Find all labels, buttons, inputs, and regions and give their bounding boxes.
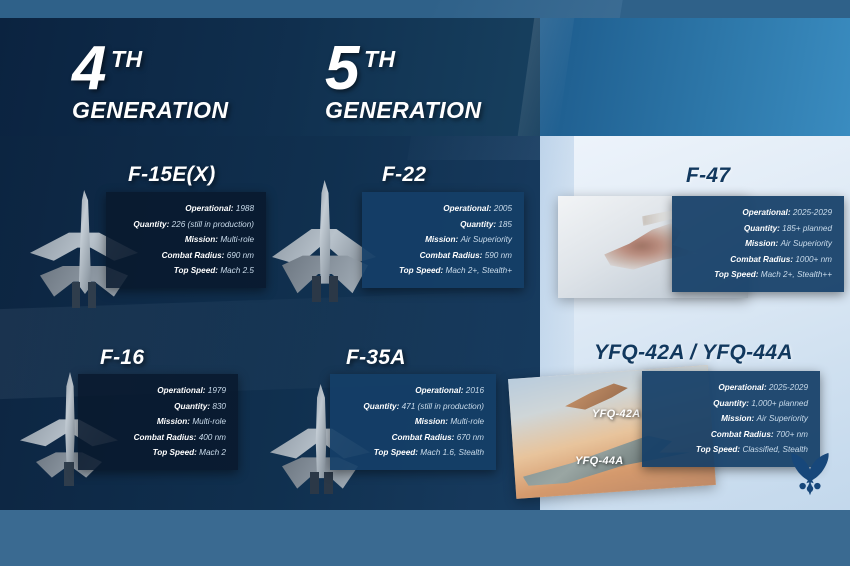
label-mission: Mission: (721, 414, 754, 423)
spec-combat-radius: Combat Radius: 700+ nm (652, 427, 808, 443)
value-quantity: 185+ planned (782, 224, 832, 233)
label-quantity: Quantity: (744, 224, 780, 233)
spec-card-f35a: Operational: 2016 Quantity: 471 (still i… (330, 374, 496, 470)
aircraft-name-f35a: F-35A (346, 346, 406, 370)
spec-operational: Operational: 2025-2029 (682, 205, 832, 221)
spec-combat-radius: Combat Radius: 1000+ nm (682, 252, 832, 268)
value-operational: 2025-2029 (769, 383, 808, 392)
value-combat-radius: 400 nm (199, 433, 226, 442)
label-quantity: Quantity: (713, 399, 749, 408)
f35-engine-left (310, 472, 319, 494)
spec-quantity: Quantity: 226 (still in production) (116, 217, 254, 233)
value-operational: 2016 (466, 386, 484, 395)
spec-quantity: Quantity: 1,000+ planned (652, 396, 808, 412)
spec-mission: Mission: Multi-role (116, 232, 254, 248)
spec-operational: Operational: 2016 (340, 383, 484, 399)
label-operational: Operational: (718, 383, 766, 392)
f16-engine (64, 462, 74, 486)
f22-engine-left (312, 276, 321, 302)
aircraft-name-f22: F-22 (382, 163, 426, 187)
label-top-speed: Top Speed: (399, 266, 443, 275)
label-operational: Operational: (157, 386, 205, 395)
label-combat-radius: Combat Radius: (711, 430, 774, 439)
gen4-word: GENERATION (72, 98, 229, 122)
gen5-number: 5 (325, 42, 360, 96)
value-mission: Air Superiority (757, 414, 808, 423)
value-quantity: 1,000+ planned (751, 399, 808, 408)
label-mission: Mission: (415, 417, 448, 426)
value-combat-radius: 670 nm (457, 433, 484, 442)
value-quantity: 830 (212, 402, 226, 411)
label-top-speed: Top Speed: (374, 448, 418, 457)
label-quantity: Quantity: (363, 402, 399, 411)
aircraft-name-f16: F-16 (100, 346, 144, 370)
bottom-accent-strip (0, 510, 850, 566)
spec-mission: Mission: Multi-role (340, 414, 484, 430)
spec-mission: Mission: Air Superiority (682, 236, 832, 252)
spec-quantity: Quantity: 185+ planned (682, 221, 832, 237)
label-top-speed: Top Speed: (714, 270, 758, 279)
label-quantity: Quantity: (133, 220, 169, 229)
spec-top-speed: Top Speed: Mach 2+, Stealth++ (682, 267, 832, 283)
value-quantity: 471 (still in production) (402, 402, 484, 411)
value-mission: Multi-role (220, 235, 254, 244)
value-quantity: 185 (498, 220, 512, 229)
label-operational: Operational: (415, 386, 463, 395)
spec-operational: Operational: 2025-2029 (652, 380, 808, 396)
header-title-gen5: 5TH GENERATION (325, 42, 482, 122)
label-mission: Mission: (745, 239, 778, 248)
value-top-speed: Mach 2+, Stealth+ (446, 266, 512, 275)
label-mission: Mission: (185, 235, 218, 244)
value-top-speed: Mach 2.5 (220, 266, 254, 275)
value-operational: 2025-2029 (793, 208, 832, 217)
value-combat-radius: 1000+ nm (795, 255, 832, 264)
label-combat-radius: Combat Radius: (162, 251, 225, 260)
label-mission: Mission: (425, 235, 458, 244)
spec-quantity: Quantity: 830 (88, 399, 226, 415)
label-top-speed: Top Speed: (696, 445, 740, 454)
gen5-word: GENERATION (325, 98, 482, 122)
f15-engine-left (72, 282, 80, 308)
drone-label-yfq42a: YFQ-42A (592, 408, 641, 420)
spec-top-speed: Top Speed: Mach 2+, Stealth+ (372, 263, 512, 279)
aircraft-name-f47: F-47 (686, 164, 730, 188)
spec-top-speed: Top Speed: Mach 1.6, Stealth (340, 445, 484, 461)
aircraft-name-f15ex: F-15E(X) (128, 163, 216, 187)
infographic-root: ★ ★ ★ ★ ★ ★ 4TH GENERATION 5TH GENERATIO… (0, 0, 850, 566)
spec-card-f15ex: Operational: 1988 Quantity: 226 (still i… (106, 192, 266, 288)
spec-mission: Mission: Air Superiority (372, 232, 512, 248)
spec-combat-radius: Combat Radius: 590 nm (372, 248, 512, 264)
value-top-speed: Mach 2 (199, 448, 226, 457)
spec-quantity: Quantity: 471 (still in production) (340, 399, 484, 415)
value-combat-radius: 690 nm (227, 251, 254, 260)
spec-operational: Operational: 2005 (372, 201, 512, 217)
value-operational: 2005 (494, 204, 512, 213)
f15-engine-right (88, 282, 96, 308)
header-col-ngad (540, 18, 850, 136)
spec-top-speed: Top Speed: Mach 2.5 (116, 263, 254, 279)
spec-card-f47: Operational: 2025-2029 Quantity: 185+ pl… (672, 196, 844, 292)
value-top-speed: Mach 1.6, Stealth (420, 448, 484, 457)
spec-combat-radius: Combat Radius: 400 nm (88, 430, 226, 446)
spec-combat-radius: Combat Radius: 670 nm (340, 430, 484, 446)
gen5-ordinal: TH (364, 48, 396, 71)
drone-label-yfq44a: YFQ-44A (575, 455, 624, 467)
f35-engine-right (324, 472, 333, 494)
label-quantity: Quantity: (174, 402, 210, 411)
value-combat-radius: 590 nm (485, 251, 512, 260)
value-combat-radius: 700+ nm (776, 430, 808, 439)
gen4-number: 4 (72, 42, 107, 96)
spec-operational: Operational: 1979 (88, 383, 226, 399)
aircraft-name-yfq: YFQ-42A / YFQ-44A (594, 341, 793, 365)
label-operational: Operational: (185, 204, 233, 213)
label-top-speed: Top Speed: (153, 448, 197, 457)
spec-card-f16: Operational: 1979 Quantity: 830 Mission:… (78, 374, 238, 470)
f22-engine-right (329, 276, 338, 302)
value-quantity: 226 (still in production) (172, 220, 254, 229)
spec-card-f22: Operational: 2005 Quantity: 185 Mission:… (362, 192, 524, 288)
f47-nose (642, 210, 674, 226)
label-combat-radius: Combat Radius: (134, 433, 197, 442)
spec-mission: Mission: Air Superiority (652, 411, 808, 427)
spec-top-speed: Top Speed: Mach 2 (88, 445, 226, 461)
value-mission: Multi-role (192, 417, 226, 426)
value-operational: 1988 (236, 204, 254, 213)
spec-mission: Mission: Multi-role (88, 414, 226, 430)
label-operational: Operational: (742, 208, 790, 217)
value-operational: 1979 (208, 386, 226, 395)
spec-combat-radius: Combat Radius: 690 nm (116, 248, 254, 264)
gen4-ordinal: TH (111, 48, 143, 71)
usaf-logo-icon (782, 452, 838, 498)
value-mission: Air Superiority (781, 239, 832, 248)
label-top-speed: Top Speed: (174, 266, 218, 275)
spec-operational: Operational: 1988 (116, 201, 254, 217)
label-mission: Mission: (157, 417, 190, 426)
label-combat-radius: Combat Radius: (420, 251, 483, 260)
spec-quantity: Quantity: 185 (372, 217, 512, 233)
value-top-speed: Mach 2+, Stealth++ (761, 270, 832, 279)
label-quantity: Quantity: (460, 220, 496, 229)
value-mission: Air Superiority (461, 235, 512, 244)
label-operational: Operational: (443, 204, 491, 213)
header-title-gen4: 4TH GENERATION (72, 42, 229, 122)
label-combat-radius: Combat Radius: (730, 255, 793, 264)
value-mission: Multi-role (450, 417, 484, 426)
label-combat-radius: Combat Radius: (392, 433, 455, 442)
